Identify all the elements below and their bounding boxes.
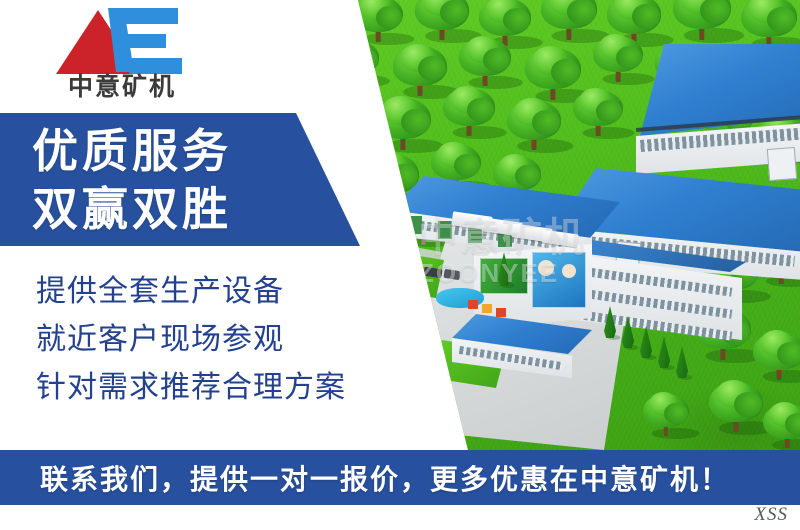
tree: [414, 0, 470, 40]
tree: [458, 36, 512, 86]
tree: [708, 380, 764, 432]
selling-point-2: 就近客户现场参观: [36, 316, 416, 364]
corner-watermark: XSS: [754, 504, 788, 526]
cypress-tree: [676, 346, 688, 378]
headline-text: 优质服务 双赢双胜: [0, 113, 330, 246]
tree: [752, 330, 800, 380]
tree: [506, 98, 562, 150]
headline-line-2: 双赢双胜: [32, 180, 330, 238]
tree: [442, 86, 496, 136]
company-logo: 中意矿机: [50, 6, 190, 108]
cypress-tree: [604, 306, 616, 338]
call-to-action-bar: 联系我们，提供一对一报价，更多优惠在中意矿机！: [0, 450, 800, 505]
flag-marker: [468, 300, 478, 309]
logo-company-name: 中意矿机: [58, 72, 186, 102]
cypress-tree: [498, 252, 510, 286]
tree: [642, 392, 690, 436]
tree: [392, 44, 448, 96]
gatehouse-building: [452, 314, 592, 394]
tree: [352, 0, 404, 42]
call-to-action-text: 联系我们，提供一对一报价，更多优惠在中意矿机！: [40, 458, 730, 498]
tree: [572, 88, 624, 136]
promo-poster: 中意矿机 ZOONYEE 中意矿机 优质服务 双赢双胜 提供全套生产设备 就近客…: [0, 0, 800, 530]
blue-poster: [532, 252, 586, 308]
tree: [540, 0, 598, 40]
tree: [330, 38, 380, 84]
selling-points-list: 提供全套生产设备 就近客户现场参观 针对需求推荐合理方案: [36, 268, 416, 412]
tree: [672, 0, 732, 40]
cypress-tree: [622, 316, 634, 348]
selling-point-3: 针对需求推荐合理方案: [36, 364, 416, 412]
cypress-tree: [658, 336, 670, 368]
cypress-tree: [640, 326, 652, 358]
tree: [762, 402, 800, 448]
tree: [374, 96, 432, 150]
headline-line-1: 优质服务: [32, 122, 330, 180]
flag-marker: [482, 304, 492, 313]
selling-point-1: 提供全套生产设备: [36, 268, 416, 316]
flag-marker: [496, 308, 506, 317]
logo-mark-icon: [50, 6, 190, 78]
tree: [740, 0, 798, 48]
